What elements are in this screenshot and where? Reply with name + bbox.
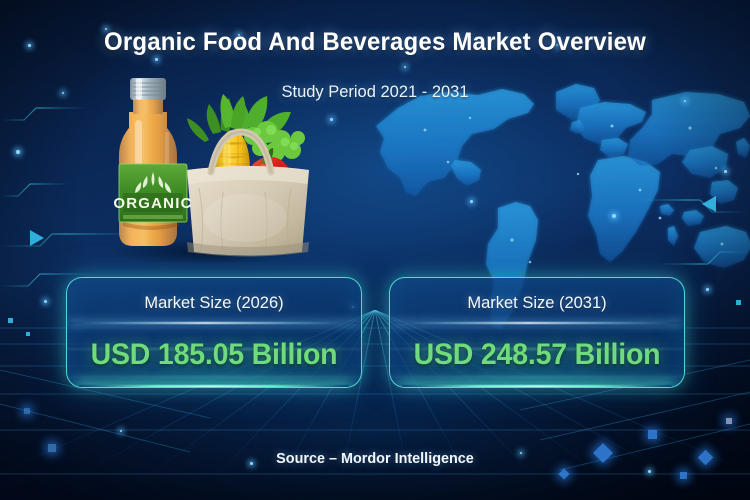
juice-bottle-icon: ORGANIC xyxy=(113,78,192,246)
stat-card-market-size-2031[interactable]: Market Size (2031) USD 248.57 Billion xyxy=(389,277,685,388)
page-title: Organic Food And Beverages Market Overvi… xyxy=(15,28,735,57)
card-divider xyxy=(392,322,682,324)
bottle-cap xyxy=(130,78,166,100)
stat-card-label: Market Size (2026) xyxy=(71,293,356,313)
infographic-root: Organic Food And Beverages Market Overvi… xyxy=(0,0,750,500)
card-divider xyxy=(69,322,359,324)
bottle-label-text: ORGANIC xyxy=(113,195,192,212)
stat-card-value: USD 248.57 Billion xyxy=(397,338,676,372)
stat-card-market-size-2026[interactable]: Market Size (2026) USD 185.05 Billion xyxy=(66,277,362,388)
stat-card-value: USD 185.05 Billion xyxy=(74,338,353,372)
map-light-dots xyxy=(424,117,724,264)
stat-card-label: Market Size (2031) xyxy=(394,293,679,313)
source-attribution: Source – Mordor Intelligence xyxy=(15,450,735,467)
product-illustration: ORGANIC xyxy=(95,72,310,262)
